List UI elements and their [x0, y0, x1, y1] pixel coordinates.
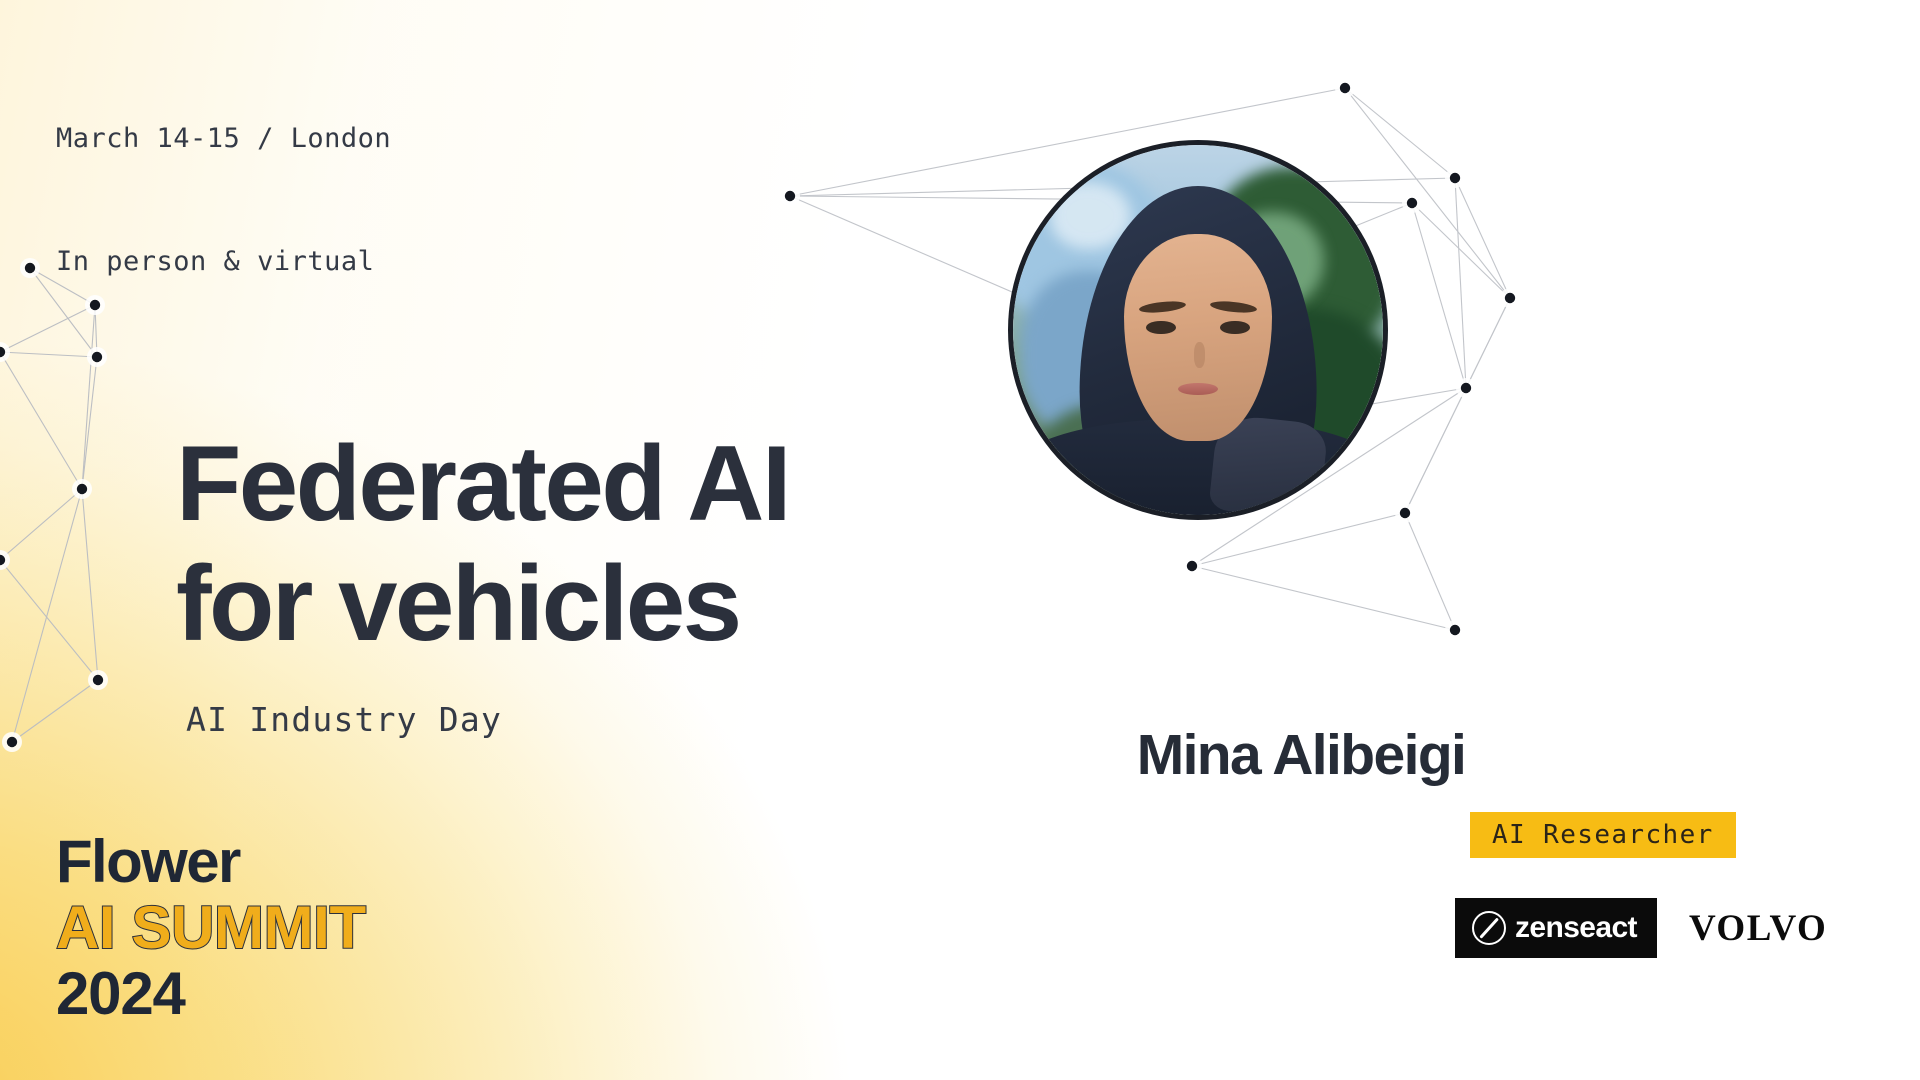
logo-year: 2024 — [56, 964, 366, 1024]
page-title-line-1: Federated AI — [176, 423, 789, 543]
affiliation-logos: zenseact VOLVO — [1455, 898, 1833, 958]
portrait-lips — [1178, 383, 1218, 395]
logo-brand-name: Flower — [56, 832, 366, 892]
flower-ai-summit-logo: Flower AI SUMMIT 2024 — [56, 832, 366, 1024]
portrait-brow-right — [1209, 300, 1257, 315]
event-dates-location: March 14-15 / London — [56, 118, 391, 159]
speaker-name: Mina Alibeigi — [1056, 722, 1546, 788]
page-title: Federated AI for vehicles — [176, 424, 789, 664]
zenseact-wordmark: zenseact — [1515, 913, 1637, 943]
event-attendance-mode: In person & virtual — [56, 241, 391, 282]
volvo-logo: VOLVO — [1683, 910, 1833, 947]
circle-slash-icon — [1472, 911, 1506, 945]
portrait-face — [1124, 234, 1272, 441]
event-info-block: March 14-15 / London In person & virtual — [56, 36, 391, 364]
logo-event-name: AI SUMMIT — [56, 898, 366, 958]
speaker-portrait — [1013, 145, 1383, 515]
speaker-announcement-poster: March 14-15 / London In person & virtual… — [0, 0, 1920, 1080]
portrait-eye-right — [1220, 321, 1250, 334]
portrait-nose — [1194, 342, 1206, 369]
portrait-eye-left — [1146, 321, 1176, 334]
zenseact-logo: zenseact — [1455, 898, 1657, 958]
portrait-image — [1013, 145, 1383, 515]
portrait-brow-left — [1138, 300, 1186, 315]
page-title-line-2: for vehicles — [176, 544, 789, 664]
track-label: AI Industry Day — [186, 700, 502, 739]
speaker-role-badge: AI Researcher — [1470, 812, 1736, 858]
